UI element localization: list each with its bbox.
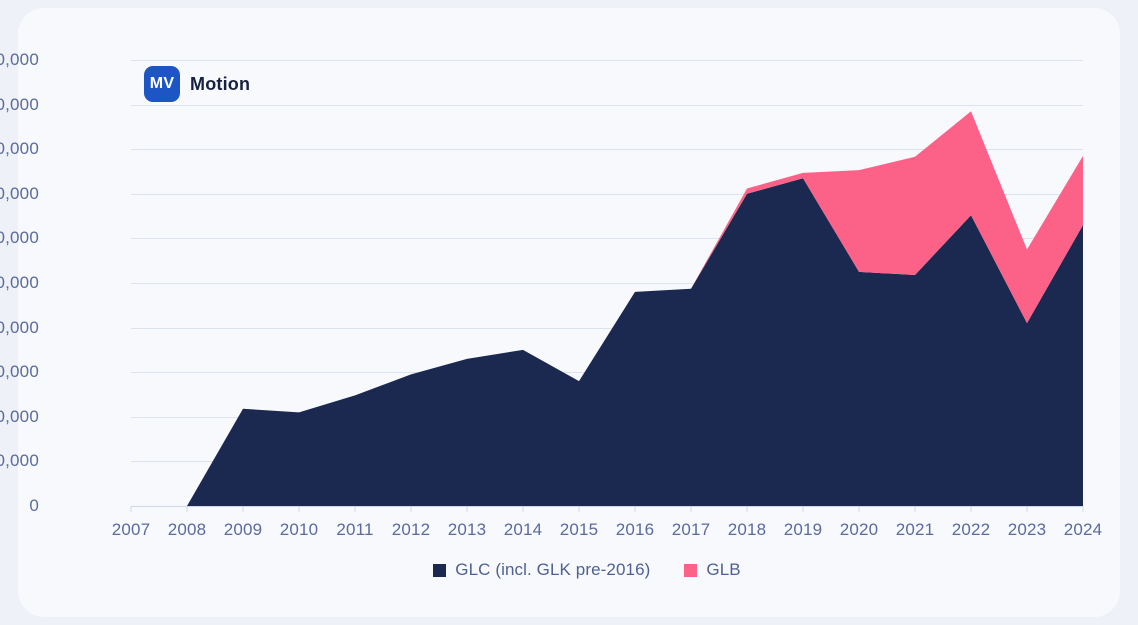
x-axis-tick xyxy=(747,506,748,512)
x-axis-tick xyxy=(467,506,468,512)
x-axis-tick xyxy=(691,506,692,512)
y-axis-tick-label: 80,000 xyxy=(0,139,39,159)
y-axis-tick-label: 30,000 xyxy=(0,362,39,382)
x-axis-tick-label: 2019 xyxy=(784,520,823,540)
legend-swatch-icon xyxy=(684,564,697,577)
y-axis-tick-label: 20,000 xyxy=(0,407,39,427)
y-axis-tick-label: 90,000 xyxy=(0,95,39,115)
y-axis-tick-label: 60,000 xyxy=(0,228,39,248)
x-axis-tick xyxy=(915,506,916,512)
legend-label: GLC (incl. GLK pre-2016) xyxy=(455,560,650,580)
x-axis-tick-label: 2012 xyxy=(392,520,431,540)
y-axis-tick-label: 0 xyxy=(0,496,39,516)
x-axis-tick xyxy=(243,506,244,512)
y-axis-tick-label: 40,000 xyxy=(0,318,39,338)
legend-item[interactable]: GLC (incl. GLK pre-2016) xyxy=(433,560,650,580)
x-axis-tick xyxy=(1027,506,1028,512)
x-axis-tick xyxy=(187,506,188,512)
y-axis-tick-label: 50,000 xyxy=(0,273,39,293)
x-axis-tick-label: 2015 xyxy=(560,520,599,540)
x-axis-tick-label: 2011 xyxy=(336,520,373,540)
x-axis-tick xyxy=(523,506,524,512)
x-axis-tick-label: 2017 xyxy=(672,520,711,540)
x-axis-tick xyxy=(299,506,300,512)
chart-legend: GLC (incl. GLK pre-2016)GLB xyxy=(18,560,1138,580)
x-axis-tick-label: 2024 xyxy=(1064,520,1103,540)
x-axis-tick-label: 2016 xyxy=(616,520,655,540)
x-axis: 2007200820092010201120122013201420152016… xyxy=(131,506,1083,552)
x-axis-tick-label: 2021 xyxy=(896,520,935,540)
chart-card: MV Motion 100,00090,00080,00070,00060,00… xyxy=(18,8,1120,617)
legend-item[interactable]: GLB xyxy=(684,560,740,580)
y-axis-tick-label: 100,000 xyxy=(0,50,39,70)
x-axis-tick-label: 2009 xyxy=(224,520,263,540)
x-axis-tick xyxy=(131,506,132,512)
page-root: MV Motion 100,00090,00080,00070,00060,00… xyxy=(0,0,1138,625)
x-axis-tick xyxy=(355,506,356,512)
x-axis-tick xyxy=(1083,506,1084,512)
legend-label: GLB xyxy=(706,560,740,580)
x-axis-tick xyxy=(803,506,804,512)
x-axis-tick-label: 2008 xyxy=(168,520,207,540)
x-axis-tick-label: 2014 xyxy=(504,520,543,540)
x-axis-tick xyxy=(971,506,972,512)
y-axis-tick-label: 10,000 xyxy=(0,451,39,471)
stacked-area-chart xyxy=(131,60,1083,506)
x-axis-tick-label: 2010 xyxy=(280,520,319,540)
x-axis-tick xyxy=(411,506,412,512)
x-axis-tick-label: 2022 xyxy=(952,520,991,540)
x-axis-tick xyxy=(859,506,860,512)
x-axis-tick-label: 2007 xyxy=(112,520,151,540)
x-axis-tick-label: 2020 xyxy=(840,520,879,540)
x-axis-tick xyxy=(579,506,580,512)
x-axis-tick-label: 2023 xyxy=(1008,520,1047,540)
x-axis-tick xyxy=(635,506,636,512)
x-axis-tick-label: 2013 xyxy=(448,520,487,540)
x-axis-tick-label: 2018 xyxy=(728,520,767,540)
legend-swatch-icon xyxy=(433,564,446,577)
y-axis-tick-label: 70,000 xyxy=(0,184,39,204)
